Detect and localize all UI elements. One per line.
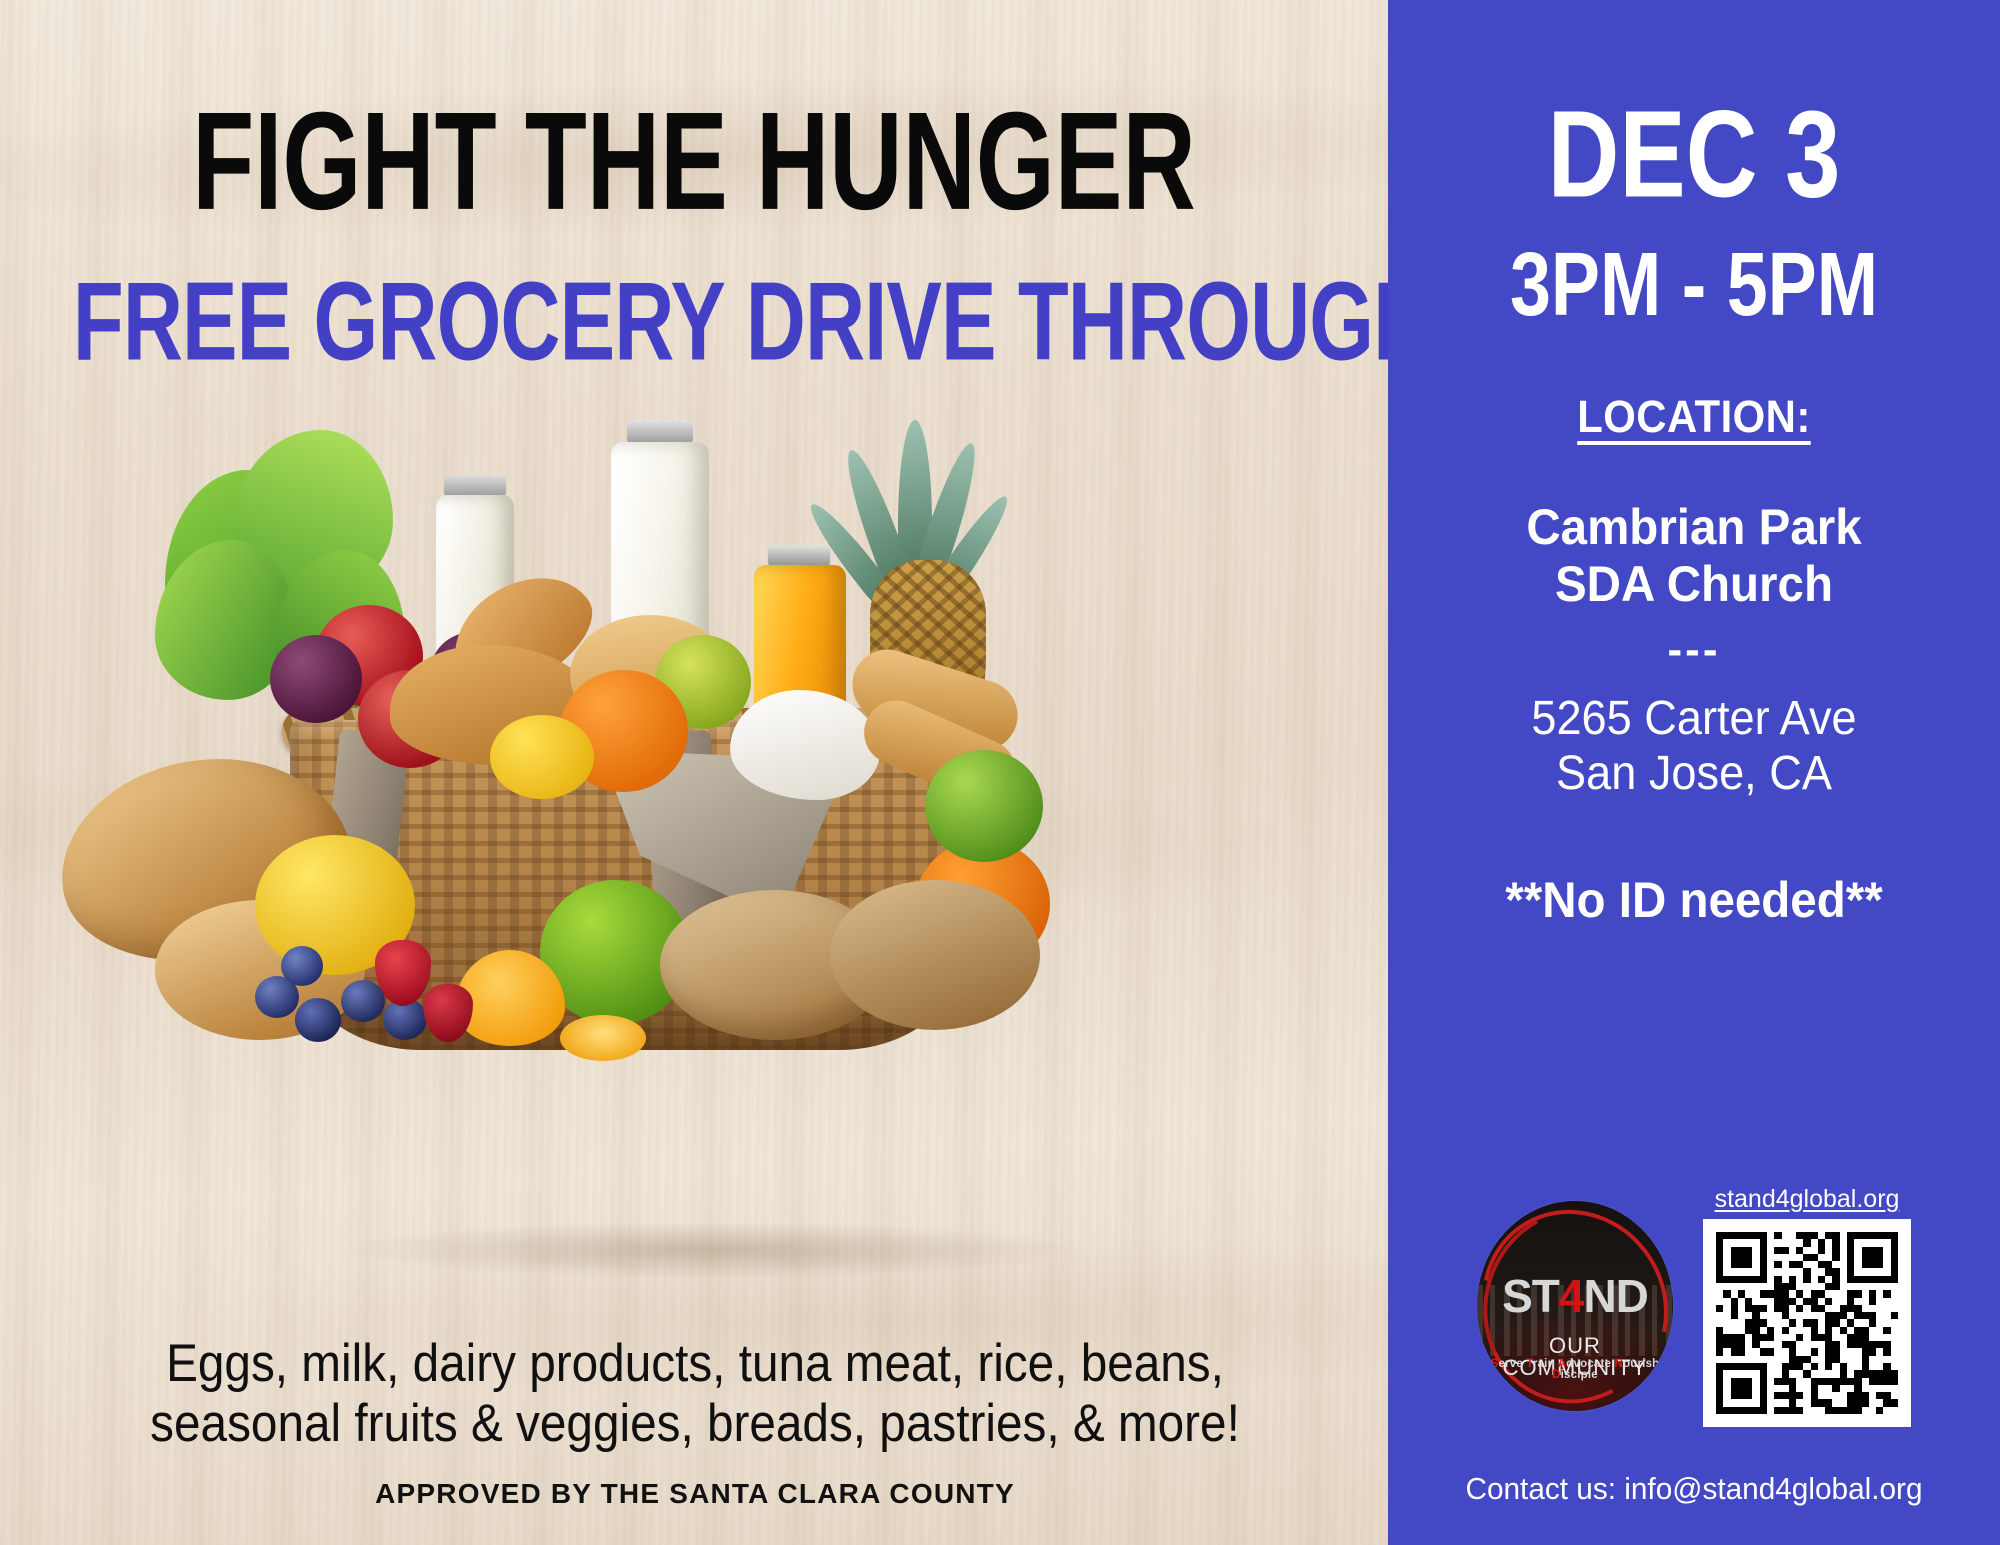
flyer-poster: FIGHT THE HUNGER FREE GROCERY DRIVE THRO…: [0, 0, 2000, 1545]
no-id-needed-note: **No ID needed**: [1403, 871, 1984, 929]
plum-graphic: [270, 635, 362, 723]
stand4global-logo-icon: ST4ND OUR COMMUNITY Serve Train Advocate…: [1477, 1201, 1673, 1411]
logo-word-prefix: ST: [1502, 1270, 1559, 1322]
address-line-2: San Jose, CA: [1406, 747, 1981, 802]
description-line-2: seasonal fruits & veggies, breads, pastr…: [124, 1394, 1267, 1454]
website-url[interactable]: stand4global.org: [1703, 1185, 1911, 1214]
bread-slice-graphic: [830, 880, 1040, 1030]
headline-block: FIGHT THE HUNGER FREE GROCERY DRIVE THRO…: [0, 92, 1388, 359]
logo-word-suffix: ND: [1583, 1270, 1647, 1322]
left-content-panel: FIGHT THE HUNGER FREE GROCERY DRIVE THRO…: [0, 0, 1388, 1545]
orange-slice-graphic: [560, 1015, 646, 1061]
location-label: LOCATION:: [1409, 391, 1978, 443]
groceries-description: Eggs, milk, dairy products, tuna meat, r…: [124, 1334, 1267, 1455]
event-time: 3PM - 5PM: [1412, 241, 1975, 329]
divider: ---: [1388, 635, 2000, 666]
berries-graphic: [255, 940, 495, 1060]
event-details-panel: DEC 3 3PM - 5PM LOCATION: Cambrian Park …: [1388, 0, 2000, 1545]
logo-wordmark: ST4ND: [1477, 1273, 1673, 1319]
qr-code-icon[interactable]: [1703, 1219, 1911, 1427]
venue-line-2: SDA Church: [1403, 556, 1984, 613]
page-subtitle: FREE GROCERY DRIVE THROUGH: [73, 266, 1315, 378]
venue-line-1: Cambrian Park: [1403, 499, 1984, 556]
logo-tagline: Serve Train Advocate Nourish Disciple: [1477, 1359, 1673, 1382]
qr-code-grid: [1716, 1232, 1898, 1414]
image-shadow: [200, 1210, 1220, 1290]
approval-note: APPROVED BY THE SANTA CLARA COUNTY: [60, 1478, 1330, 1510]
contact-line[interactable]: Contact us: info@stand4global.org: [1400, 1471, 1988, 1507]
green-apple-graphic: [925, 750, 1043, 862]
qr-block[interactable]: stand4global.org: [1703, 1185, 1911, 1427]
grocery-basket-image: [60, 420, 1360, 1300]
logo-word-four: 4: [1559, 1270, 1584, 1322]
venue-name: Cambrian Park SDA Church: [1403, 499, 1984, 613]
description-line-1: Eggs, milk, dairy products, tuna meat, r…: [124, 1334, 1267, 1394]
lemon-graphic: [490, 715, 594, 799]
page-title: FIGHT THE HUNGER: [97, 92, 1291, 231]
branding-row: ST4ND OUR COMMUNITY Serve Train Advocate…: [1388, 1185, 2000, 1427]
venue-address: 5265 Carter Ave San Jose, CA: [1406, 692, 1981, 801]
address-line-1: 5265 Carter Ave: [1406, 692, 1981, 747]
event-date: DEC 3: [1412, 96, 1975, 213]
